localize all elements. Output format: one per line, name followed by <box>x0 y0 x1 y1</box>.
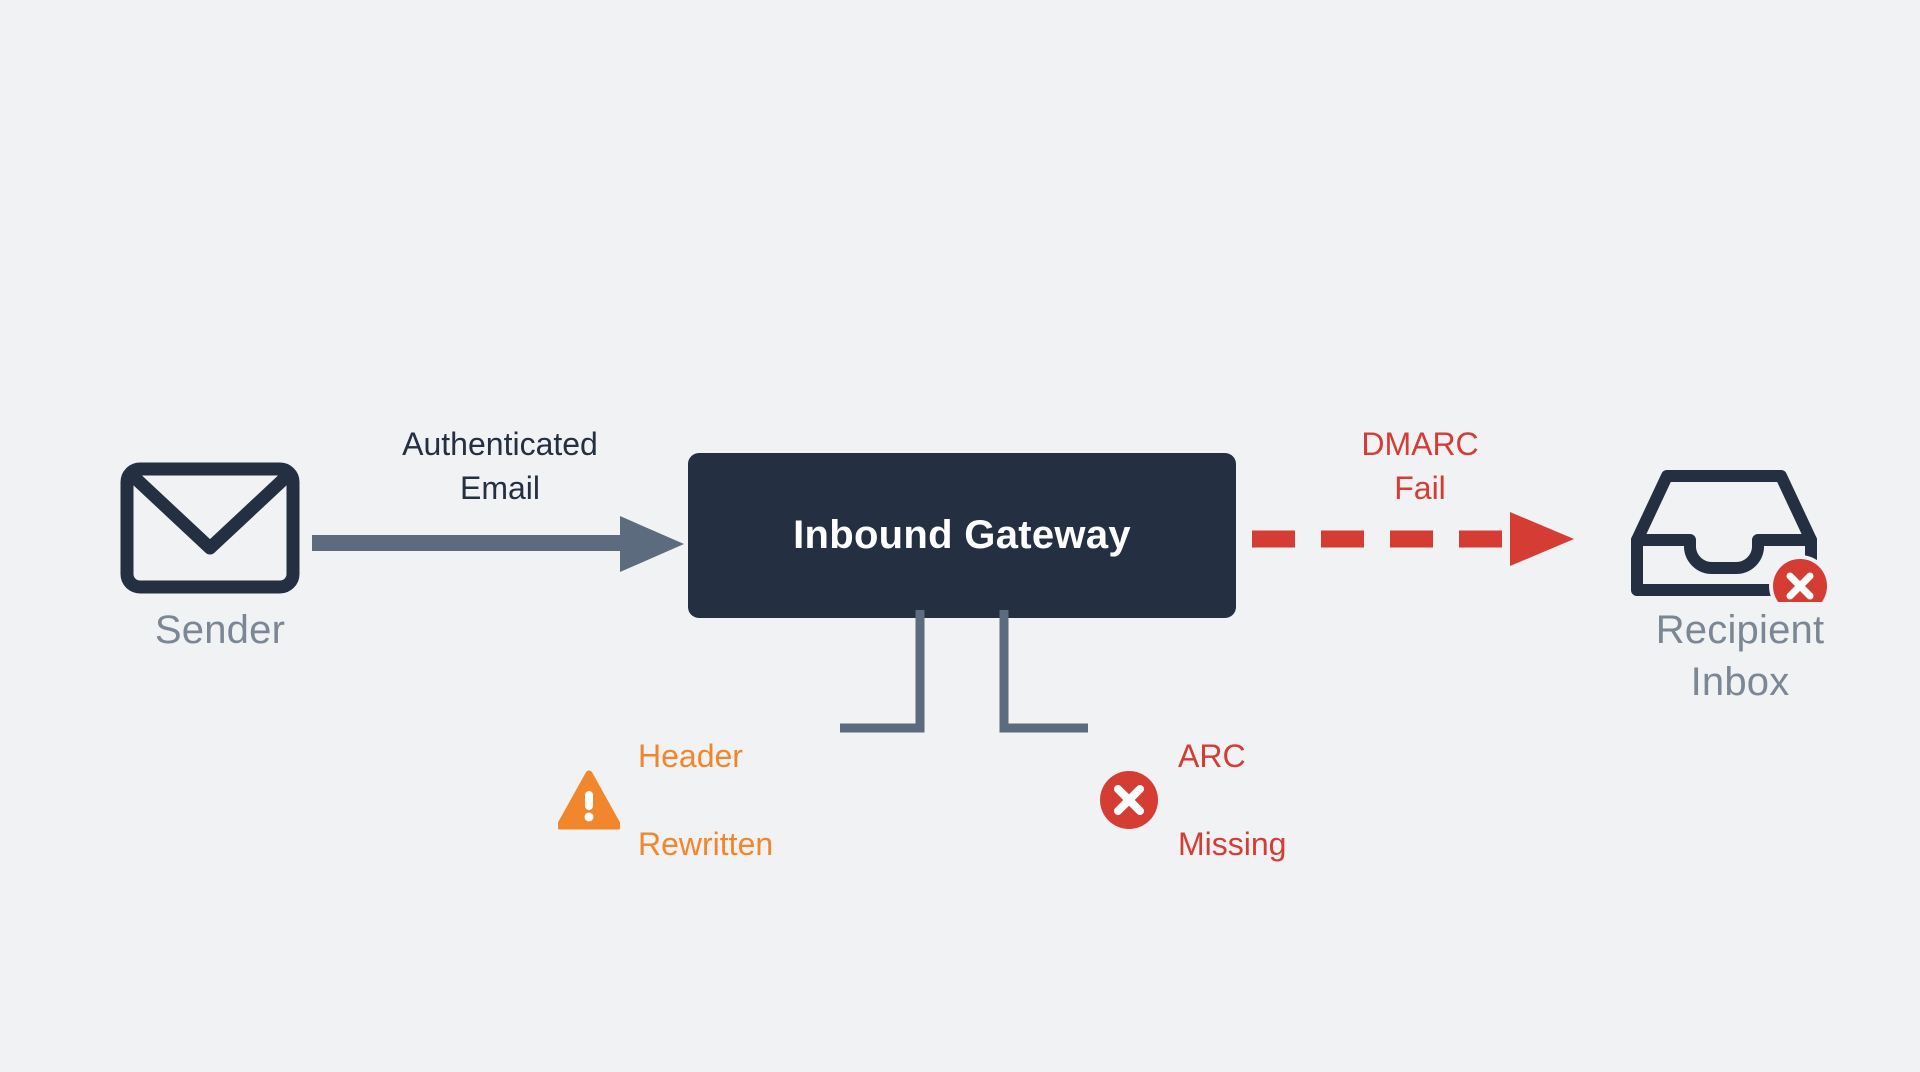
authenticated-email-label-line2: Email <box>300 466 700 510</box>
annotation-header-rewritten-text: Header Rewritten <box>638 690 773 910</box>
authenticated-email-arrow <box>312 512 692 576</box>
annotation-header-rewritten-line1: Header <box>638 734 773 778</box>
recipient-inbox-label: Recipient Inbox <box>1610 604 1870 708</box>
annotation-arc-missing: ARC Missing <box>1098 690 1286 910</box>
gateway-annotation-connectors <box>820 610 1110 750</box>
recipient-inbox-label-line2: Inbox <box>1610 656 1870 708</box>
sender-label: Sender <box>100 604 340 656</box>
error-x-circle-icon <box>1098 769 1160 831</box>
recipient-inbox-label-line1: Recipient <box>1610 604 1870 656</box>
recipient-node: Recipient Inbox <box>1610 462 1870 692</box>
dmarc-fail-label: DMARC Fail <box>1300 422 1540 510</box>
dmarc-fail-arrow <box>1252 508 1578 570</box>
inbound-gateway-title: Inbound Gateway <box>793 513 1131 558</box>
annotation-header-rewritten-line2: Rewritten <box>638 822 773 866</box>
annotation-arc-missing-text: ARC Missing <box>1178 690 1286 910</box>
authenticated-email-label: Authenticated Email <box>300 422 700 510</box>
dmarc-fail-label-line2: Fail <box>1300 466 1540 510</box>
envelope-icon <box>120 462 300 594</box>
annotation-arc-missing-line1: ARC <box>1178 734 1286 778</box>
annotation-arc-missing-line2: Missing <box>1178 822 1286 866</box>
authenticated-email-label-line1: Authenticated <box>300 422 700 466</box>
inbox-tray-icon <box>1624 462 1834 602</box>
dmarc-fail-label-line1: DMARC <box>1300 422 1540 466</box>
warning-triangle-icon <box>558 769 620 831</box>
diagram-canvas: Sender Authenticated Email Inbound Gatew… <box>0 0 1920 1072</box>
inbound-gateway-box[interactable]: Inbound Gateway <box>688 453 1236 618</box>
error-x-circle-icon <box>1769 555 1831 602</box>
annotation-header-rewritten: Header Rewritten <box>558 690 773 910</box>
